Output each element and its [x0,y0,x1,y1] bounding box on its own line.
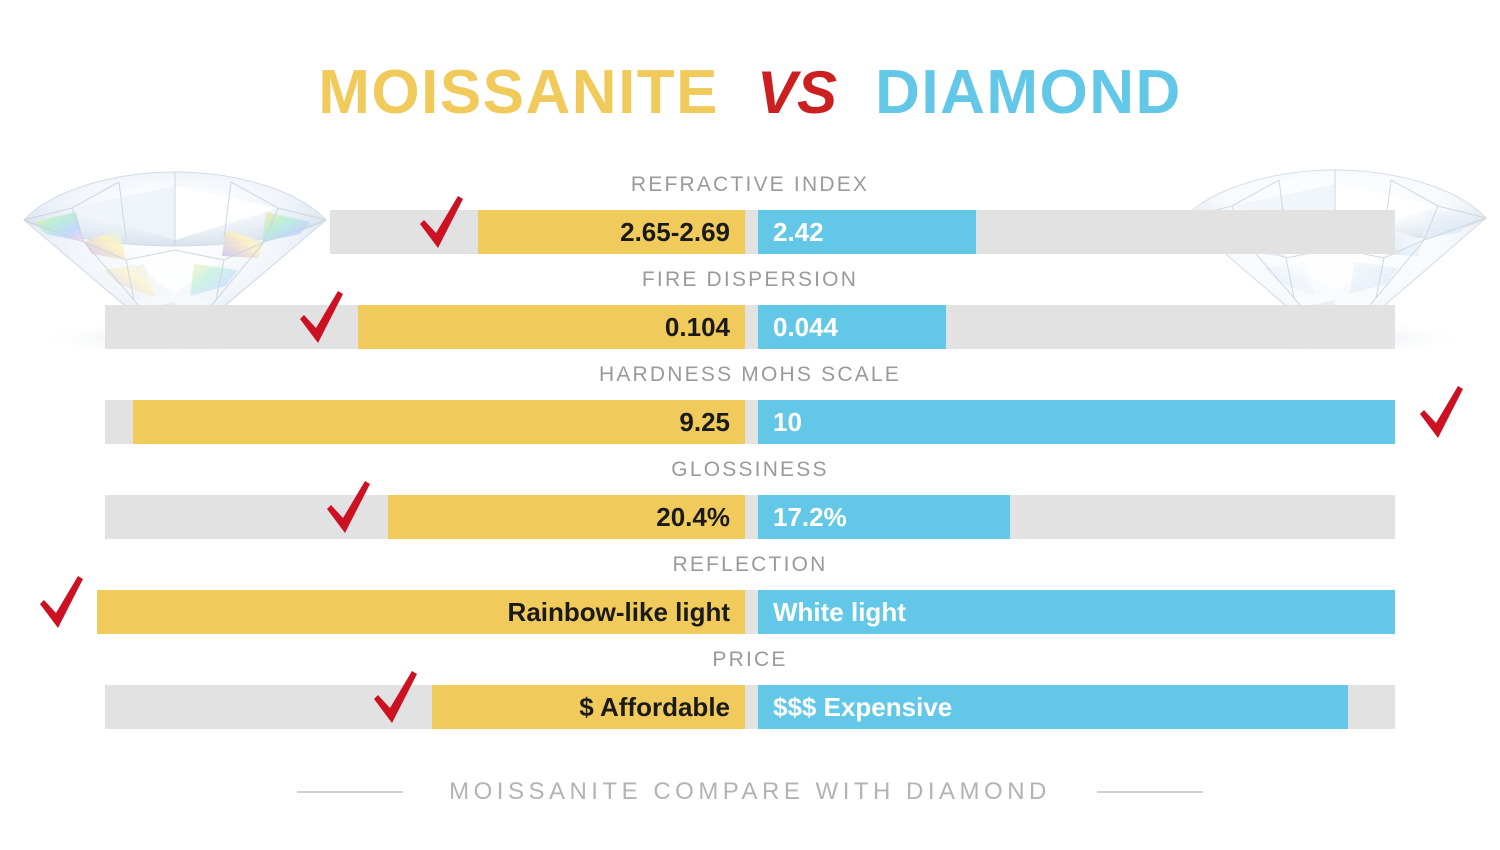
footer-divider-right [1097,791,1203,793]
page-title: MOISSANITE VS DIAMOND [0,62,1500,124]
comparison-row: HARDNESS MOHS SCALE9.2510 [0,358,1500,453]
footer-caption: MOISSANITE COMPARE WITH DIAMOND [449,778,1051,806]
winner-check-icon [38,576,84,632]
title-vs: VS [757,63,837,123]
category-label: REFLECTION [0,553,1500,577]
diamond-value: White light [773,599,906,625]
category-label: GLOSSINESS [0,458,1500,482]
footer-divider-left [297,791,403,793]
diamond-value: 10 [773,409,802,435]
winner-check-icon [1418,386,1464,442]
footer: MOISSANITE COMPARE WITH DIAMOND [0,778,1500,806]
moissanite-value: Rainbow-like light [508,599,730,625]
comparison-row: GLOSSINESS20.4%17.2% [0,453,1500,548]
moissanite-bar: 20.4% [388,495,745,539]
comparison-row: REFRACTIVE INDEX2.65-2.692.42 [0,168,1500,263]
category-label: FIRE DISPERSION [0,268,1500,292]
diamond-value: $$$ Expensive [773,694,952,720]
category-label: PRICE [0,648,1500,672]
moissanite-bar: 0.104 [358,305,745,349]
diamond-value: 0.044 [773,314,838,340]
moissanite-bar: $ Affordable [432,685,745,729]
comparison-rows: REFRACTIVE INDEX2.65-2.692.42FIRE DISPER… [0,168,1500,738]
moissanite-value: $ Affordable [579,694,730,720]
category-label: HARDNESS MOHS SCALE [0,363,1500,387]
diamond-bar: White light [758,590,1395,634]
diamond-bar: 0.044 [758,305,946,349]
comparison-row: PRICE$ Affordable$$$ Expensive [0,643,1500,738]
diamond-value: 17.2% [773,504,847,530]
title-moissanite: MOISSANITE [318,62,719,124]
diamond-bar: 17.2% [758,495,1010,539]
moissanite-bar: Rainbow-like light [97,590,745,634]
moissanite-value: 9.25 [679,409,730,435]
winner-check-icon [325,481,371,537]
comparison-row: FIRE DISPERSION0.1040.044 [0,263,1500,358]
diamond-bar: $$$ Expensive [758,685,1348,729]
moissanite-bar: 2.65-2.69 [478,210,745,254]
title-diamond: DIAMOND [875,62,1182,124]
winner-check-icon [418,196,464,252]
diamond-bar: 10 [758,400,1395,444]
moissanite-value: 20.4% [656,504,730,530]
moissanite-value: 0.104 [665,314,730,340]
winner-check-icon [298,291,344,347]
category-label: REFRACTIVE INDEX [0,173,1500,197]
row-track [105,495,1395,539]
comparison-row: REFLECTIONRainbow-like lightWhite light [0,548,1500,643]
diamond-value: 2.42 [773,219,824,245]
moissanite-value: 2.65-2.69 [620,219,730,245]
winner-check-icon [372,671,418,727]
diamond-bar: 2.42 [758,210,976,254]
moissanite-bar: 9.25 [133,400,745,444]
